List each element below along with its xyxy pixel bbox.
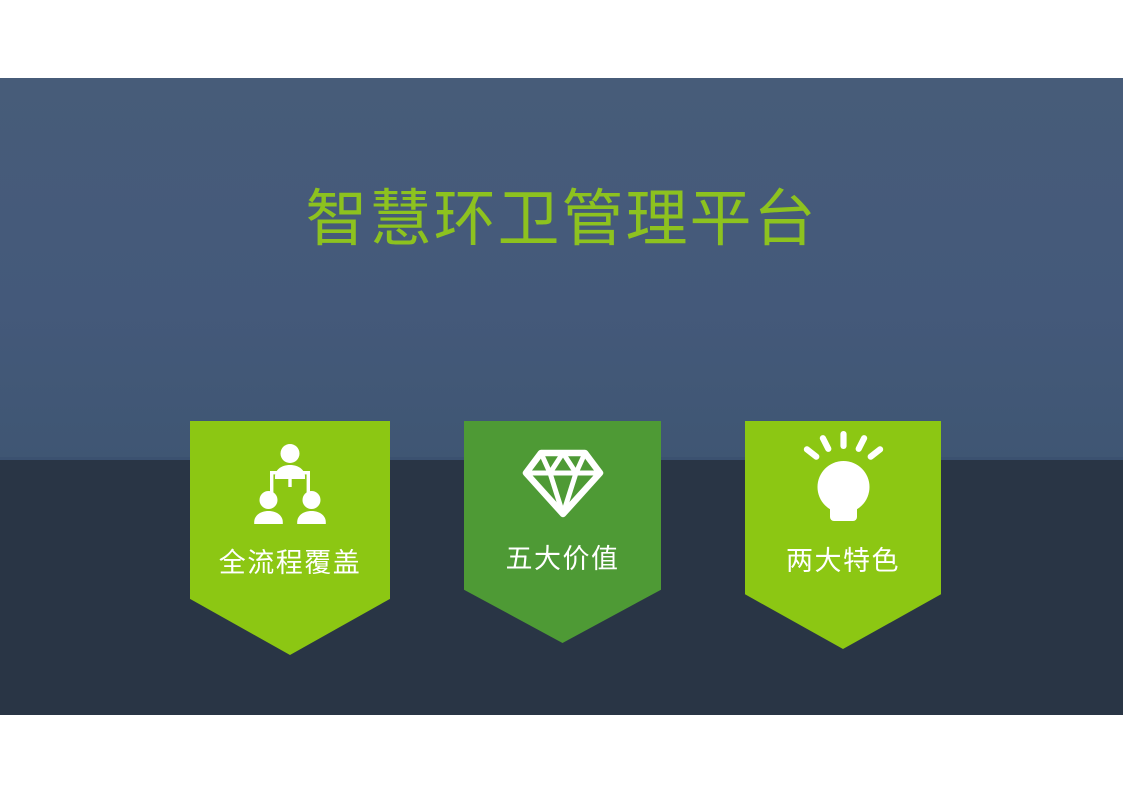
banner-group: 全流程覆盖 五大价值: [0, 78, 1123, 715]
banner-item-3[interactable]: 两大特色: [745, 421, 941, 649]
banner-item-2[interactable]: 五大价值: [464, 421, 661, 643]
lightbulb-icon: [745, 427, 941, 531]
banner-label-1: 全流程覆盖: [190, 541, 390, 580]
banner-label-3: 两大特色: [745, 539, 941, 578]
organization-chart-icon: [190, 433, 390, 533]
banner-item-1[interactable]: 全流程覆盖: [190, 421, 390, 655]
diamond-icon: [464, 435, 661, 531]
presentation-slide: 智慧环卫管理平台: [0, 78, 1123, 715]
banner-label-2: 五大价值: [464, 537, 661, 576]
